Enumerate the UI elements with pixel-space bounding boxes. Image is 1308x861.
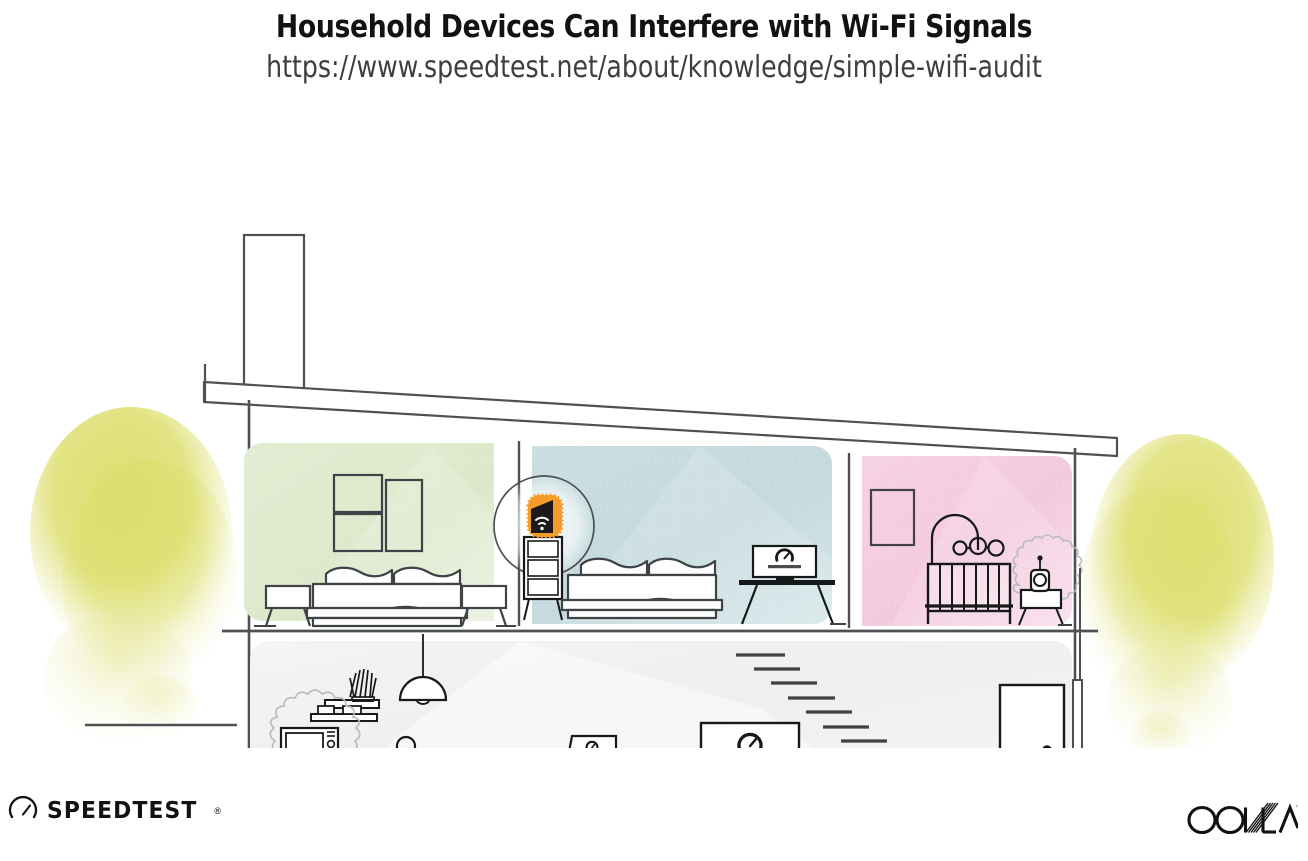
- bed: [307, 568, 467, 626]
- room-bedroom-blue: [494, 446, 846, 624]
- page-title: Household Devices Can Interfere with Wi-…: [92, 0, 1217, 46]
- source-url: https://www.speedtest.net/about/knowledg…: [105, 46, 1204, 86]
- room-bedroom-green: [244, 443, 516, 626]
- television[interactable]: [701, 723, 799, 748]
- ookla-trademark: ™: [1295, 805, 1298, 812]
- wifi-router[interactable]: [528, 495, 562, 537]
- tree-right: [1078, 434, 1274, 748]
- poster-header: Household Devices Can Interfere with Wi-…: [0, 0, 1308, 85]
- house-illustration: [0, 108, 1308, 748]
- speedtest-trademark: ®: [214, 806, 221, 816]
- speedtest-wordmark: SPEEDTEST: [47, 798, 197, 824]
- wifi-icon-dot: [540, 527, 543, 530]
- roof: [204, 364, 1117, 456]
- ookla-logo[interactable]: ™: [1186, 798, 1298, 838]
- speedtest-logo[interactable]: SPEEDTEST ®: [8, 796, 221, 826]
- ookla-wordmark-icon: ™: [1186, 798, 1298, 838]
- speedometer-icon: [8, 796, 38, 826]
- monitor-logo-text: [768, 565, 801, 568]
- chimney: [244, 235, 304, 390]
- poster-footer: SPEEDTEST ®: [0, 780, 1308, 861]
- front-door[interactable]: [1000, 685, 1064, 748]
- room-nursery-pink: [862, 456, 1082, 626]
- poster-root: Household Devices Can Interfere with Wi-…: [0, 0, 1308, 861]
- tree-left: [30, 407, 238, 744]
- desktop-monitor[interactable]: [753, 546, 816, 580]
- house-cutaway-svg: [0, 108, 1308, 748]
- bed-blue: [562, 559, 722, 618]
